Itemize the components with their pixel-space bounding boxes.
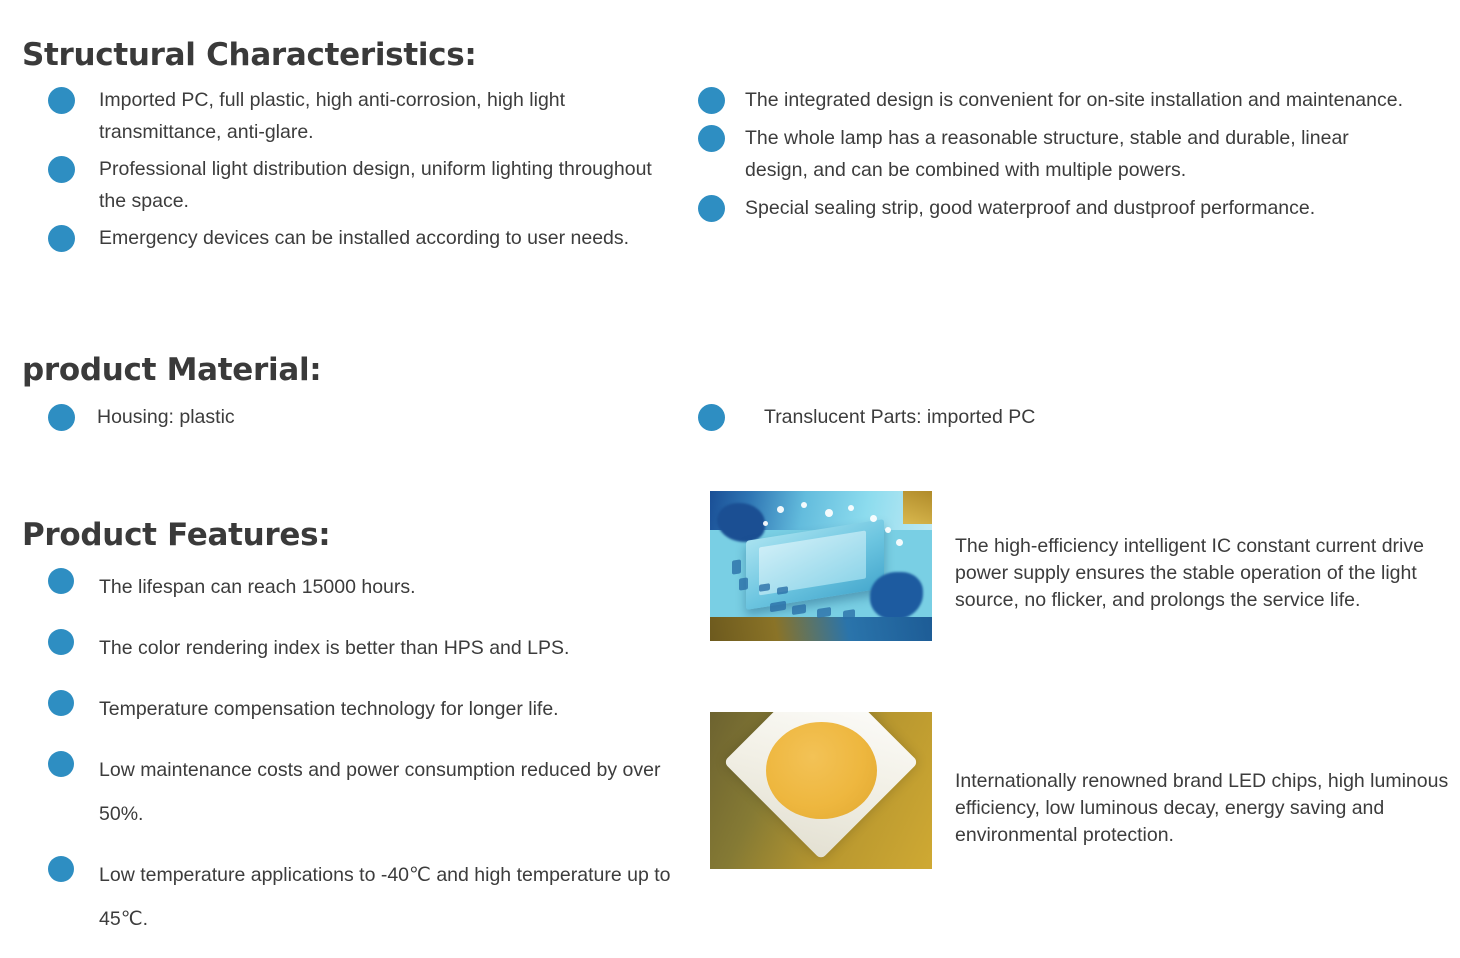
list-item: Translucent Parts: imported PC — [698, 402, 1258, 433]
list-item: The integrated design is convenient for … — [698, 84, 1410, 116]
list-item-label: Emergency devices can be installed accor… — [99, 222, 660, 254]
list-item-label: The color rendering index is better than… — [99, 626, 688, 670]
bullet-dot-icon — [48, 404, 75, 431]
list-item: Temperature compensation technology for … — [48, 687, 688, 731]
list-item-label: Imported PC, full plastic, high anti-cor… — [99, 84, 660, 148]
bullet-dot-icon — [48, 751, 74, 777]
product-spec-page: Structural Characteristics: Imported PC,… — [0, 0, 1460, 900]
list-item: The whole lamp has a reasonable structur… — [698, 122, 1410, 186]
led-chip-photo — [710, 712, 932, 869]
bullet-dot-icon — [48, 87, 75, 114]
bullet-dot-icon — [48, 156, 75, 183]
feature-highlight-ic-driver: The high-efficiency intelligent IC const… — [710, 491, 1455, 641]
feature-highlight-caption: Internationally renowned brand LED chips… — [955, 732, 1455, 849]
list-item-label: The integrated design is convenient for … — [745, 84, 1410, 116]
structural-characteristics-list-left: Imported PC, full plastic, high anti-cor… — [48, 84, 660, 259]
product-material-list-left: Housing: plastic — [48, 402, 608, 433]
bullet-dot-icon — [48, 568, 74, 594]
structural-characteristics-list-right: The integrated design is convenient for … — [698, 84, 1410, 230]
page-title-product-features: Product Features: — [22, 520, 330, 551]
list-item: Housing: plastic — [48, 402, 608, 433]
bullet-dot-icon — [698, 125, 725, 152]
bullet-dot-icon — [48, 690, 74, 716]
product-features-list: The lifespan can reach 15000 hours. The … — [48, 565, 688, 958]
feature-highlight-caption: The high-efficiency intelligent IC const… — [955, 511, 1455, 614]
list-item-label: Temperature compensation technology for … — [99, 687, 688, 731]
product-material-list-right: Translucent Parts: imported PC — [698, 402, 1258, 433]
list-item-label: Housing: plastic — [97, 402, 608, 433]
list-item: The lifespan can reach 15000 hours. — [48, 565, 688, 609]
list-item: Special sealing strip, good waterproof a… — [698, 192, 1410, 224]
bullet-dot-icon — [48, 856, 74, 882]
list-item-label: Low maintenance costs and power consumpt… — [99, 748, 688, 836]
bullet-dot-icon — [48, 225, 75, 252]
list-item-label: Translucent Parts: imported PC — [764, 402, 1258, 433]
bullet-dot-icon — [698, 87, 725, 114]
page-title-product-material: product Material: — [22, 355, 321, 386]
list-item: Emergency devices can be installed accor… — [48, 222, 660, 254]
list-item: The color rendering index is better than… — [48, 626, 688, 670]
list-item: Low maintenance costs and power consumpt… — [48, 748, 688, 836]
list-item: Imported PC, full plastic, high anti-cor… — [48, 84, 660, 148]
list-item-label: Low temperature applications to -40℃ and… — [99, 853, 688, 941]
bullet-dot-icon — [698, 195, 725, 222]
list-item: Low temperature applications to -40℃ and… — [48, 853, 688, 941]
bullet-dot-icon — [48, 629, 74, 655]
page-title-structural-characteristics: Structural Characteristics: — [22, 40, 477, 71]
list-item-label: Special sealing strip, good waterproof a… — [745, 192, 1410, 224]
list-item-label: The lifespan can reach 15000 hours. — [99, 565, 688, 609]
list-item-label: The whole lamp has a reasonable structur… — [745, 122, 1410, 186]
bullet-dot-icon — [698, 404, 725, 431]
list-item-label: Professional light distribution design, … — [99, 153, 660, 217]
list-item: Professional light distribution design, … — [48, 153, 660, 217]
pcb-circuit-board-photo — [710, 491, 932, 641]
feature-highlight-led-chip: Internationally renowned brand LED chips… — [710, 712, 1455, 869]
